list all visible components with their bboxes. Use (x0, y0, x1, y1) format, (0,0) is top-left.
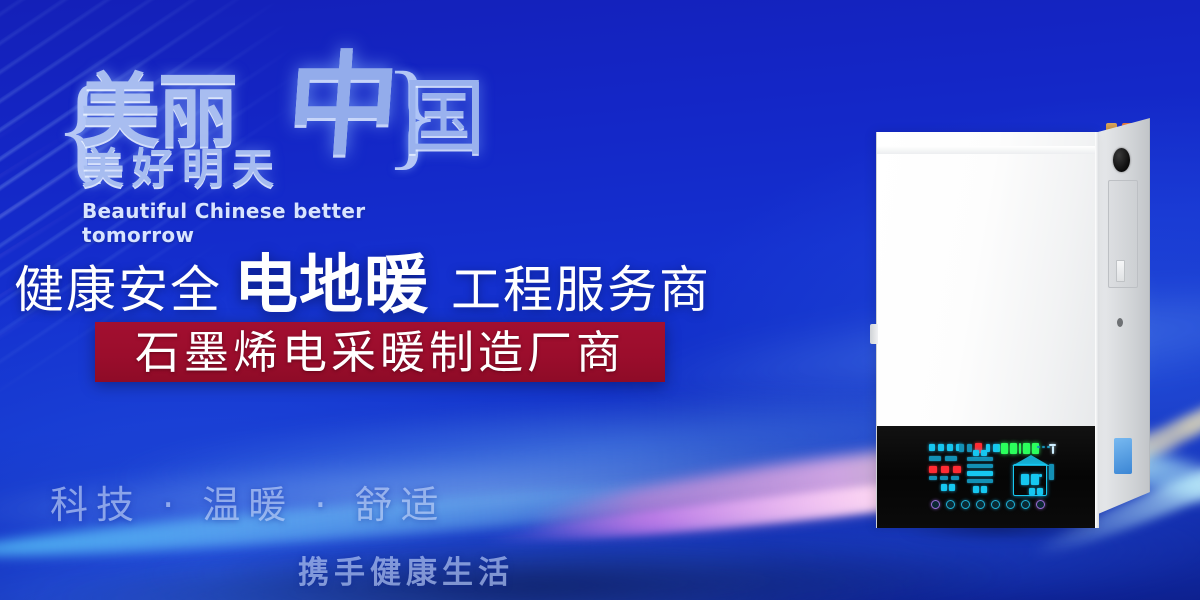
lcd-button-mode-icon[interactable] (946, 500, 955, 509)
logo-line-meihao: 美好明天 (82, 148, 282, 190)
side-blue-window (1114, 438, 1132, 474)
lcd-button-lock-icon[interactable] (1036, 500, 1045, 509)
product-top-bevel (877, 146, 1099, 154)
logo-char-zhong: 中 (283, 50, 403, 162)
logo-char-guo: 国 (402, 76, 486, 160)
side-panel-chip (1116, 260, 1125, 282)
lcd-display (929, 444, 1057, 504)
lcd-button-down-icon[interactable] (976, 500, 985, 509)
left-pipe-connector-icon (870, 324, 878, 344)
headline: 健康安全 电地暖 工程服务商 (14, 254, 711, 318)
logo-line-meili: 美丽 (80, 72, 236, 152)
side-port-icon (1117, 318, 1123, 327)
lcd-button-clock-icon[interactable] (991, 500, 1000, 509)
headline-part-3: 工程服务商 (451, 265, 711, 315)
logo-english-tagline: Beautiful Chinese better tomorrow (82, 199, 482, 247)
lcd-button-set-icon[interactable] (1006, 500, 1015, 509)
product-front-face (876, 132, 1098, 528)
headline-part-1: 健康安全 (14, 265, 222, 315)
side-vent-oval-icon (1113, 148, 1130, 172)
red-banner-text: 石墨烯电采暖制造厂商 (135, 330, 625, 375)
brand-logo: { { 美丽 中 国 美好明天 Beautiful Chinese better… (52, 44, 482, 224)
headline-part-2: 电地暖 (234, 254, 429, 318)
tagline-primary: 科技 · 温暖 · 舒适 (50, 474, 446, 529)
lcd-button-timer-icon[interactable] (1021, 500, 1030, 509)
lcd-button-power-icon[interactable] (931, 500, 940, 509)
red-banner: 石墨烯电采暖制造厂商 (95, 322, 665, 382)
tagline-secondary: 携手健康生活 (298, 547, 514, 592)
lcd-button-up-icon[interactable] (961, 500, 970, 509)
promo-banner: { { 美丽 中 国 美好明天 Beautiful Chinese better… (0, 0, 1200, 600)
product-image-electric-boiler (876, 118, 1176, 530)
product-front-edge-highlight (1095, 132, 1099, 528)
